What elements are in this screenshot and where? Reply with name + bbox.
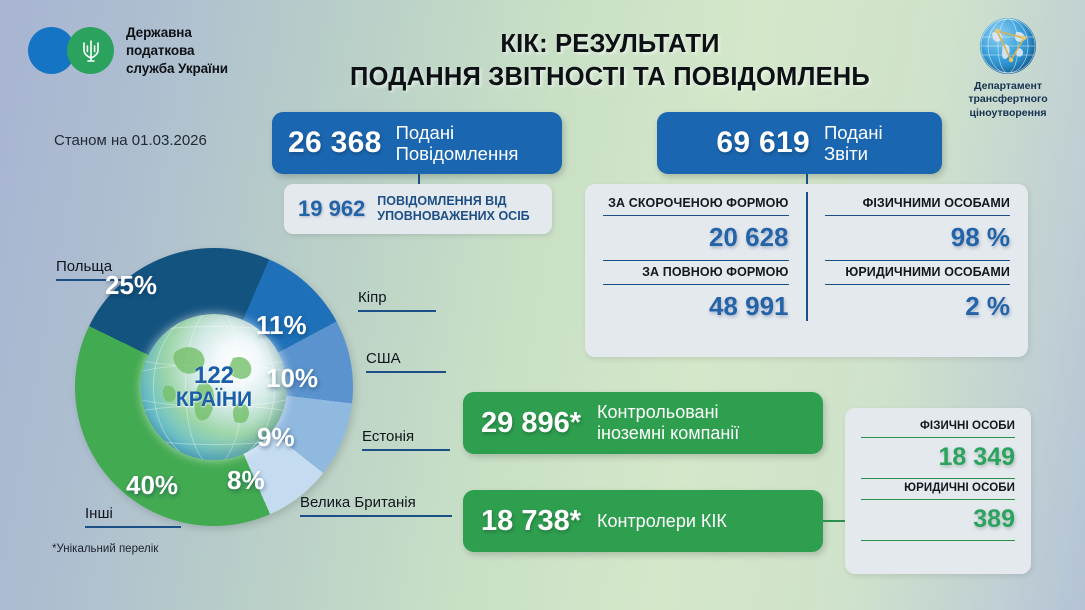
controllers-individuals-value: 18 349 [861, 438, 1015, 479]
infographic-canvas: Державна податкова служба України КІК: Р… [0, 0, 1085, 610]
authorized-messages-card: 19 962 ПОВІДОМЛЕННЯ ВІД УПОВНОВАЖЕНИХ ОС… [284, 184, 552, 234]
legend-label-others: Інші [85, 505, 181, 532]
submitted-reports-card: 69 619 Подані Звіти [657, 112, 942, 174]
reports-individuals-label: ФІЗИЧНИМИ ОСОБАМИ [825, 196, 1011, 216]
submitted-messages-card: 26 368 Подані Повідомлення [272, 112, 562, 174]
legend-text-cyprus: Кіпр [358, 289, 387, 306]
department-logo: Департамент трансфертного ціноутворення [949, 18, 1067, 120]
legend-text-usa: США [366, 350, 401, 367]
cfc-label: Контрольовані іноземні компанії [597, 402, 739, 444]
legend-label-estonia: Естонія [362, 428, 450, 455]
legend-label-uk: Велика Британія [300, 494, 452, 521]
cfc-count: 29 896* [481, 407, 581, 440]
submitted-reports-count: 69 619 [716, 126, 810, 160]
slice-value-estonia: 9% [257, 422, 295, 453]
department-name: Департамент трансфертного ціноутворення [949, 80, 1067, 120]
department-name-line3: ціноутворення [949, 107, 1067, 120]
slice-value-usa: 10% [266, 363, 318, 394]
slice-value-others: 40% [126, 470, 178, 501]
footnote: *Унікальний перелік [52, 543, 158, 555]
agency-name-line1: Державна [126, 24, 228, 42]
submitted-messages-count: 26 368 [288, 126, 382, 160]
panel-vertical-divider [806, 192, 808, 321]
as-of-date: Станом на 01.03.2026 [54, 132, 207, 149]
legend-label-cyprus: Кіпр [358, 289, 436, 316]
globe-icon [980, 18, 1036, 74]
controllers-breakdown-panel: ФІЗИЧНІ ОСОБИ 18 349 ЮРИДИЧНІ ОСОБИ 389 [845, 408, 1031, 574]
submitted-messages-label-line1: Подані [396, 122, 455, 143]
agency-name-line2: податкова [126, 42, 228, 60]
submitted-messages-label: Подані Повідомлення [396, 122, 519, 165]
reports-form-full-value: 48 991 [603, 285, 789, 329]
controllers-legal-entities-value: 389 [861, 500, 1015, 541]
legend-rule-usa [366, 371, 446, 373]
agency-name-line3: служба України [126, 60, 228, 78]
reports-breakdown-by-person: ФІЗИЧНИМИ ОСОБАМИ 98 % ЮРИДИЧНИМИ ОСОБАМ… [807, 184, 1029, 357]
legend-text-others: Інші [85, 505, 113, 522]
legend-rule-estonia [362, 449, 450, 451]
page-title-line1: КІК: РЕЗУЛЬТАТИ [300, 28, 920, 61]
submitted-reports-label-line1: Подані [824, 122, 883, 143]
controllers-label: Контролери КІК [597, 511, 727, 532]
reports-individuals-value: 98 % [825, 216, 1011, 261]
page-title-line2: ПОДАННЯ ЗВІТНОСТІ ТА ПОВІДОМЛЕНЬ [300, 61, 920, 94]
agency-name: Державна податкова служба України [126, 24, 228, 77]
authorized-messages-label: ПОВІДОМЛЕННЯ ВІД УПОВНОВАЖЕНИХ ОСІБ [377, 194, 529, 224]
legend-rule-cyprus [358, 310, 436, 312]
authorized-messages-label-line1: ПОВІДОМЛЕННЯ ВІД [377, 194, 506, 208]
cfc-label-line1: Контрольовані [597, 402, 719, 422]
controllers-count: 18 738* [481, 505, 581, 538]
logo-green-circle-trident-icon [67, 27, 114, 74]
slice-value-cyprus: 11% [256, 310, 307, 341]
reports-form-short-value: 20 628 [603, 216, 789, 261]
reports-legal-entities-label: ЮРИДИЧНИМИ ОСОБАМИ [825, 265, 1011, 285]
department-name-line1: Департамент [949, 80, 1067, 93]
cfc-controllers-card: 18 738* Контролери КІК [463, 490, 823, 552]
slice-value-uk: 8% [227, 465, 265, 496]
controllers-legal-entities-label: ЮРИДИЧНІ ОСОБИ [861, 482, 1015, 500]
legend-text-estonia: Естонія [362, 428, 414, 445]
reports-form-short-label: ЗА СКОРОЧЕНОЮ ФОРМОЮ [603, 196, 789, 216]
legend-rule-uk [300, 515, 452, 517]
controlled-foreign-companies-card: 29 896* Контрольовані іноземні компанії [463, 392, 823, 454]
legend-text-poland: Польща [56, 258, 112, 275]
countries-donut-chart: 122 КРАЇНИ 25% 11% 10% 9% 8% 40% [75, 248, 353, 526]
submitted-messages-label-line2: Повідомлення [396, 143, 519, 164]
slice-value-poland: 25% [105, 270, 157, 301]
department-name-line2: трансфертного [949, 93, 1067, 106]
legend-rule-others [85, 526, 181, 528]
page-title: КІК: РЕЗУЛЬТАТИ ПОДАННЯ ЗВІТНОСТІ ТА ПОВ… [300, 28, 920, 93]
controllers-individuals-label: ФІЗИЧНІ ОСОБИ [861, 420, 1015, 438]
reports-breakdown-panel: ЗА СКОРОЧЕНОЮ ФОРМОЮ 20 628 ЗА ПОВНОЮ ФО… [585, 184, 1028, 357]
submitted-reports-label: Подані Звіти [824, 122, 883, 165]
cfc-label-line2: іноземні компанії [597, 423, 739, 443]
legend-text-uk: Велика Британія [300, 494, 416, 511]
submitted-reports-label-line2: Звіти [824, 143, 868, 164]
dps-logo: Державна податкова служба України [28, 24, 228, 77]
authorized-messages-count: 19 962 [298, 196, 365, 222]
reports-breakdown-by-form: ЗА СКОРОЧЕНОЮ ФОРМОЮ 20 628 ЗА ПОВНОЮ ФО… [585, 184, 807, 357]
reports-form-full-label: ЗА ПОВНОЮ ФОРМОЮ [603, 265, 789, 285]
authorized-messages-label-line2: УПОВНОВАЖЕНИХ ОСІБ [377, 209, 529, 223]
legend-label-usa: США [366, 350, 446, 377]
reports-legal-entities-value: 2 % [825, 285, 1011, 329]
